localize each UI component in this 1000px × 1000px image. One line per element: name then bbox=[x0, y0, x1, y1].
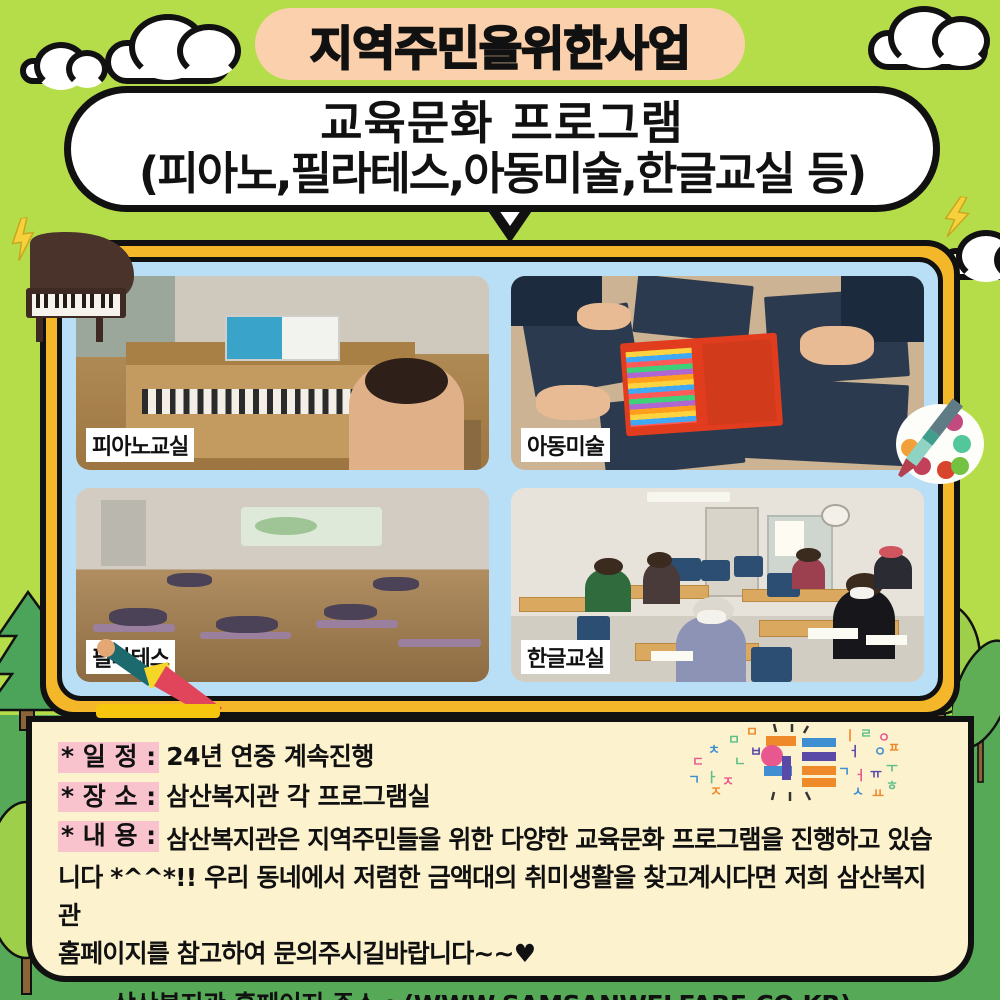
photo-hangul-class[interactable]: 한글교실 bbox=[511, 488, 924, 682]
banner-text: 지역주민을위한사업 bbox=[310, 10, 690, 79]
content-line-1: 삼산복지관은 지역주민들을 위한 다양한 교육문화 프로그램을 진행하고 있습 bbox=[166, 821, 932, 859]
page-title: 교육문화 프로그램 bbox=[320, 100, 684, 146]
svg-text:ㅣ: ㅣ bbox=[844, 729, 856, 744]
participant-head bbox=[594, 558, 623, 575]
svg-text:ㅇ: ㅇ bbox=[874, 745, 886, 760]
participant bbox=[833, 589, 895, 659]
content-line-3: 홈페이지를 참고하여 문의주시길바랍니다~~♥ bbox=[58, 935, 946, 973]
svg-text:ㅁ: ㅁ bbox=[746, 725, 758, 740]
svg-text:ㅅ: ㅅ bbox=[852, 785, 864, 800]
svg-text:ㅜ: ㅜ bbox=[886, 761, 898, 776]
poster-root: 지역주민을위한사업 교육문화 프로그램 (피아노,필라테스,아동미술,한글교실 … bbox=[0, 0, 1000, 1000]
ceiling-light bbox=[647, 492, 730, 502]
child-hand bbox=[536, 385, 610, 420]
svg-text:ㅍ: ㅍ bbox=[888, 741, 900, 756]
face-mask bbox=[850, 587, 875, 599]
participant bbox=[585, 569, 630, 612]
svg-text:ㅎ: ㅎ bbox=[886, 779, 898, 794]
participant-head bbox=[879, 546, 904, 558]
photo-childrens-art[interactable]: 아동미술 bbox=[511, 276, 924, 470]
info-label-schedule: * 일 정 : bbox=[58, 742, 159, 773]
svg-text:ㄹ: ㄹ bbox=[860, 727, 872, 742]
title-bubble: 교육문화 프로그램 (피아노,필라테스,아동미술,한글교실 등) bbox=[64, 86, 940, 212]
cloud-icon bbox=[868, 30, 988, 70]
classroom-door bbox=[705, 507, 759, 596]
info-row-content: * 내 용 : 삼산복지관은 지역주민들을 위한 다양한 교육문화 프로그램을 … bbox=[58, 821, 946, 973]
participant bbox=[874, 554, 911, 589]
photo-grid: 피아노교실 bbox=[76, 276, 924, 682]
svg-text:ㅈ: ㅈ bbox=[722, 775, 734, 790]
svg-text:ㄴ: ㄴ bbox=[734, 755, 746, 770]
grand-piano-icon bbox=[22, 232, 162, 352]
participant bbox=[373, 577, 418, 591]
child-head bbox=[365, 358, 448, 405]
hangul-letters-icon: ㅁ ㅊ ㄷ ㅁ ㄴ ㅂ ㄱ ㅏ ㅈ ㅈ ㅣ ㄹ ㅇ ㅓ ㅇ ㅍ ㄱ ㅓ ㅠ ㅜ … bbox=[688, 722, 904, 814]
svg-text:ㅓ: ㅓ bbox=[854, 769, 866, 784]
participant bbox=[792, 558, 825, 589]
svg-text:ㄱ: ㄱ bbox=[838, 765, 850, 780]
svg-text:ㅠ: ㅠ bbox=[870, 767, 882, 782]
classroom-chair bbox=[734, 556, 763, 577]
svg-text:ㅛ: ㅛ bbox=[872, 787, 884, 802]
content-line-2: 니다 *^^*!! 우리 동네에서 저렴한 금액대의 취미생활을 찾고계시다면 … bbox=[58, 859, 946, 935]
photo-label: 한글교실 bbox=[521, 640, 610, 674]
cloud-icon bbox=[105, 40, 231, 84]
worksheet bbox=[808, 628, 858, 640]
svg-text:ㅂ: ㅂ bbox=[750, 745, 762, 760]
info-value-location: 삼산복지관 각 프로그램실 bbox=[166, 782, 430, 813]
pencil-case-lid bbox=[701, 339, 776, 426]
art-paper bbox=[632, 276, 753, 344]
svg-text:ㅁ: ㅁ bbox=[728, 733, 740, 748]
svg-text:ㅓ: ㅓ bbox=[848, 745, 860, 760]
photo-label: 피아노교실 bbox=[86, 428, 194, 462]
child-hand bbox=[577, 303, 631, 330]
svg-text:ㄱ: ㄱ bbox=[688, 773, 700, 788]
svg-text:ㅊ: ㅊ bbox=[708, 743, 720, 758]
info-label-location: * 장 소 : bbox=[58, 782, 159, 813]
hall-banner bbox=[241, 507, 381, 546]
participant bbox=[676, 616, 746, 682]
participant-head bbox=[796, 548, 821, 562]
photo-label: 아동미술 bbox=[521, 428, 610, 462]
hall-door bbox=[101, 500, 146, 566]
face-mask bbox=[697, 610, 726, 624]
pencil-case bbox=[619, 333, 782, 437]
cloud-icon bbox=[20, 58, 92, 84]
participant-head bbox=[647, 552, 672, 568]
svg-text:ㅈ: ㅈ bbox=[710, 785, 722, 800]
homepage-url-line: 삼산복지관 홈페이지 주소 : (WWW.SAMSANWELFARE.CO.KR… bbox=[58, 985, 946, 1000]
colored-pencils bbox=[625, 348, 696, 427]
svg-text:ㅏ: ㅏ bbox=[706, 771, 718, 786]
info-label-content: * 내 용 : bbox=[58, 821, 159, 852]
wall-clock bbox=[821, 504, 850, 527]
worksheet bbox=[651, 651, 692, 661]
yoga-pose-icon bbox=[96, 628, 228, 720]
info-value-schedule: 24년 연중 계속진행 bbox=[166, 742, 374, 773]
child-hand bbox=[800, 326, 874, 365]
worksheet bbox=[866, 635, 907, 645]
participant bbox=[643, 562, 680, 605]
music-book bbox=[225, 315, 341, 362]
participant bbox=[109, 608, 167, 625]
yoga-mat bbox=[316, 620, 399, 628]
music-book-cover bbox=[227, 317, 283, 360]
top-banner: 지역주민을위한사업 bbox=[255, 8, 745, 80]
classroom-chair bbox=[701, 560, 730, 581]
participant bbox=[324, 604, 378, 620]
page-subtitle: (피아노,필라테스,아동미술,한글교실 등) bbox=[139, 150, 866, 197]
yoga-mat bbox=[398, 639, 481, 647]
paint-palette-icon bbox=[884, 392, 992, 492]
participant bbox=[167, 573, 212, 587]
svg-text:ㄷ: ㄷ bbox=[692, 755, 704, 770]
classroom-chair bbox=[751, 647, 792, 682]
